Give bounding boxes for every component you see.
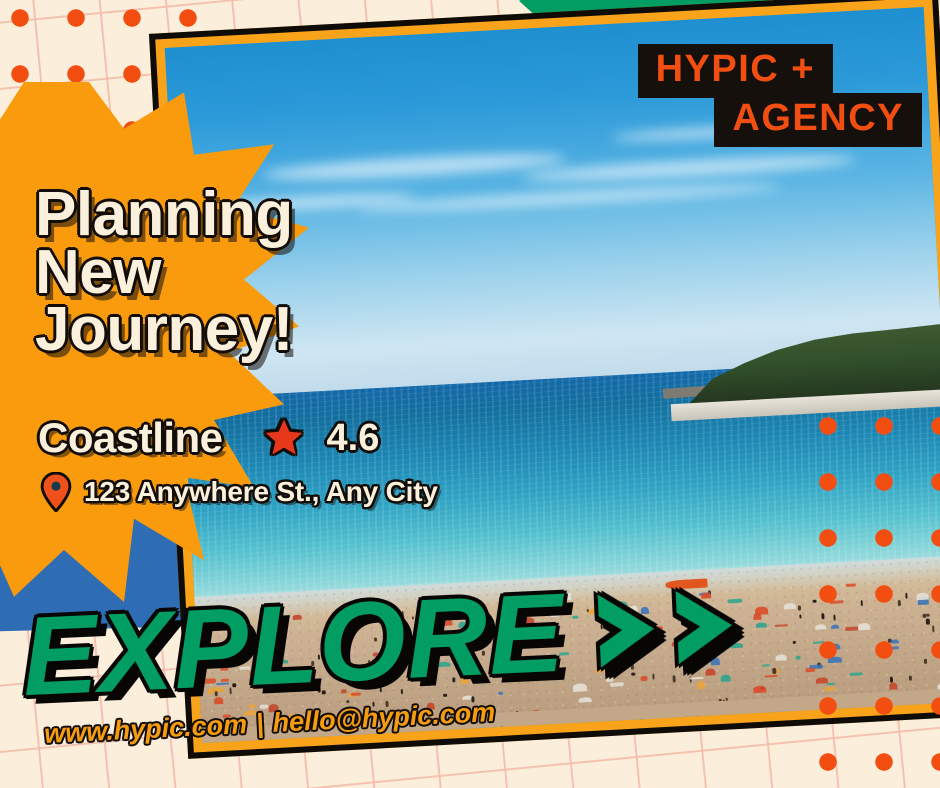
rating-value: 4.6 xyxy=(327,417,380,460)
brand-badge-line-2: AGENCY xyxy=(714,93,922,147)
cloud xyxy=(521,152,856,185)
headline-line-3: Journey! xyxy=(35,301,293,359)
page-title: Planning New Journey! xyxy=(35,186,293,359)
star-icon xyxy=(263,417,305,459)
place-name: Coastline xyxy=(38,414,223,462)
orange-dot-grid-right xyxy=(790,388,940,788)
headline-line-2: New xyxy=(35,244,293,302)
footer-separator: | xyxy=(255,708,264,739)
poster-canvas: Planning New Journey! Coastline 4.6 123 … xyxy=(0,0,940,788)
double-chevron-right-icon xyxy=(588,585,743,672)
location-pin-icon xyxy=(40,472,72,512)
address-text: 123 Anywhere St., Any City xyxy=(84,476,438,508)
cloud xyxy=(262,150,567,185)
brand-badge-line-1: HYPIC + xyxy=(638,44,833,98)
explore-label: EXPLORE xyxy=(20,577,567,713)
place-rating-row: Coastline 4.6 xyxy=(38,414,379,462)
headline-line-1: Planning xyxy=(35,186,293,244)
address-row: 123 Anywhere St., Any City xyxy=(40,472,438,512)
cloud xyxy=(356,181,782,215)
